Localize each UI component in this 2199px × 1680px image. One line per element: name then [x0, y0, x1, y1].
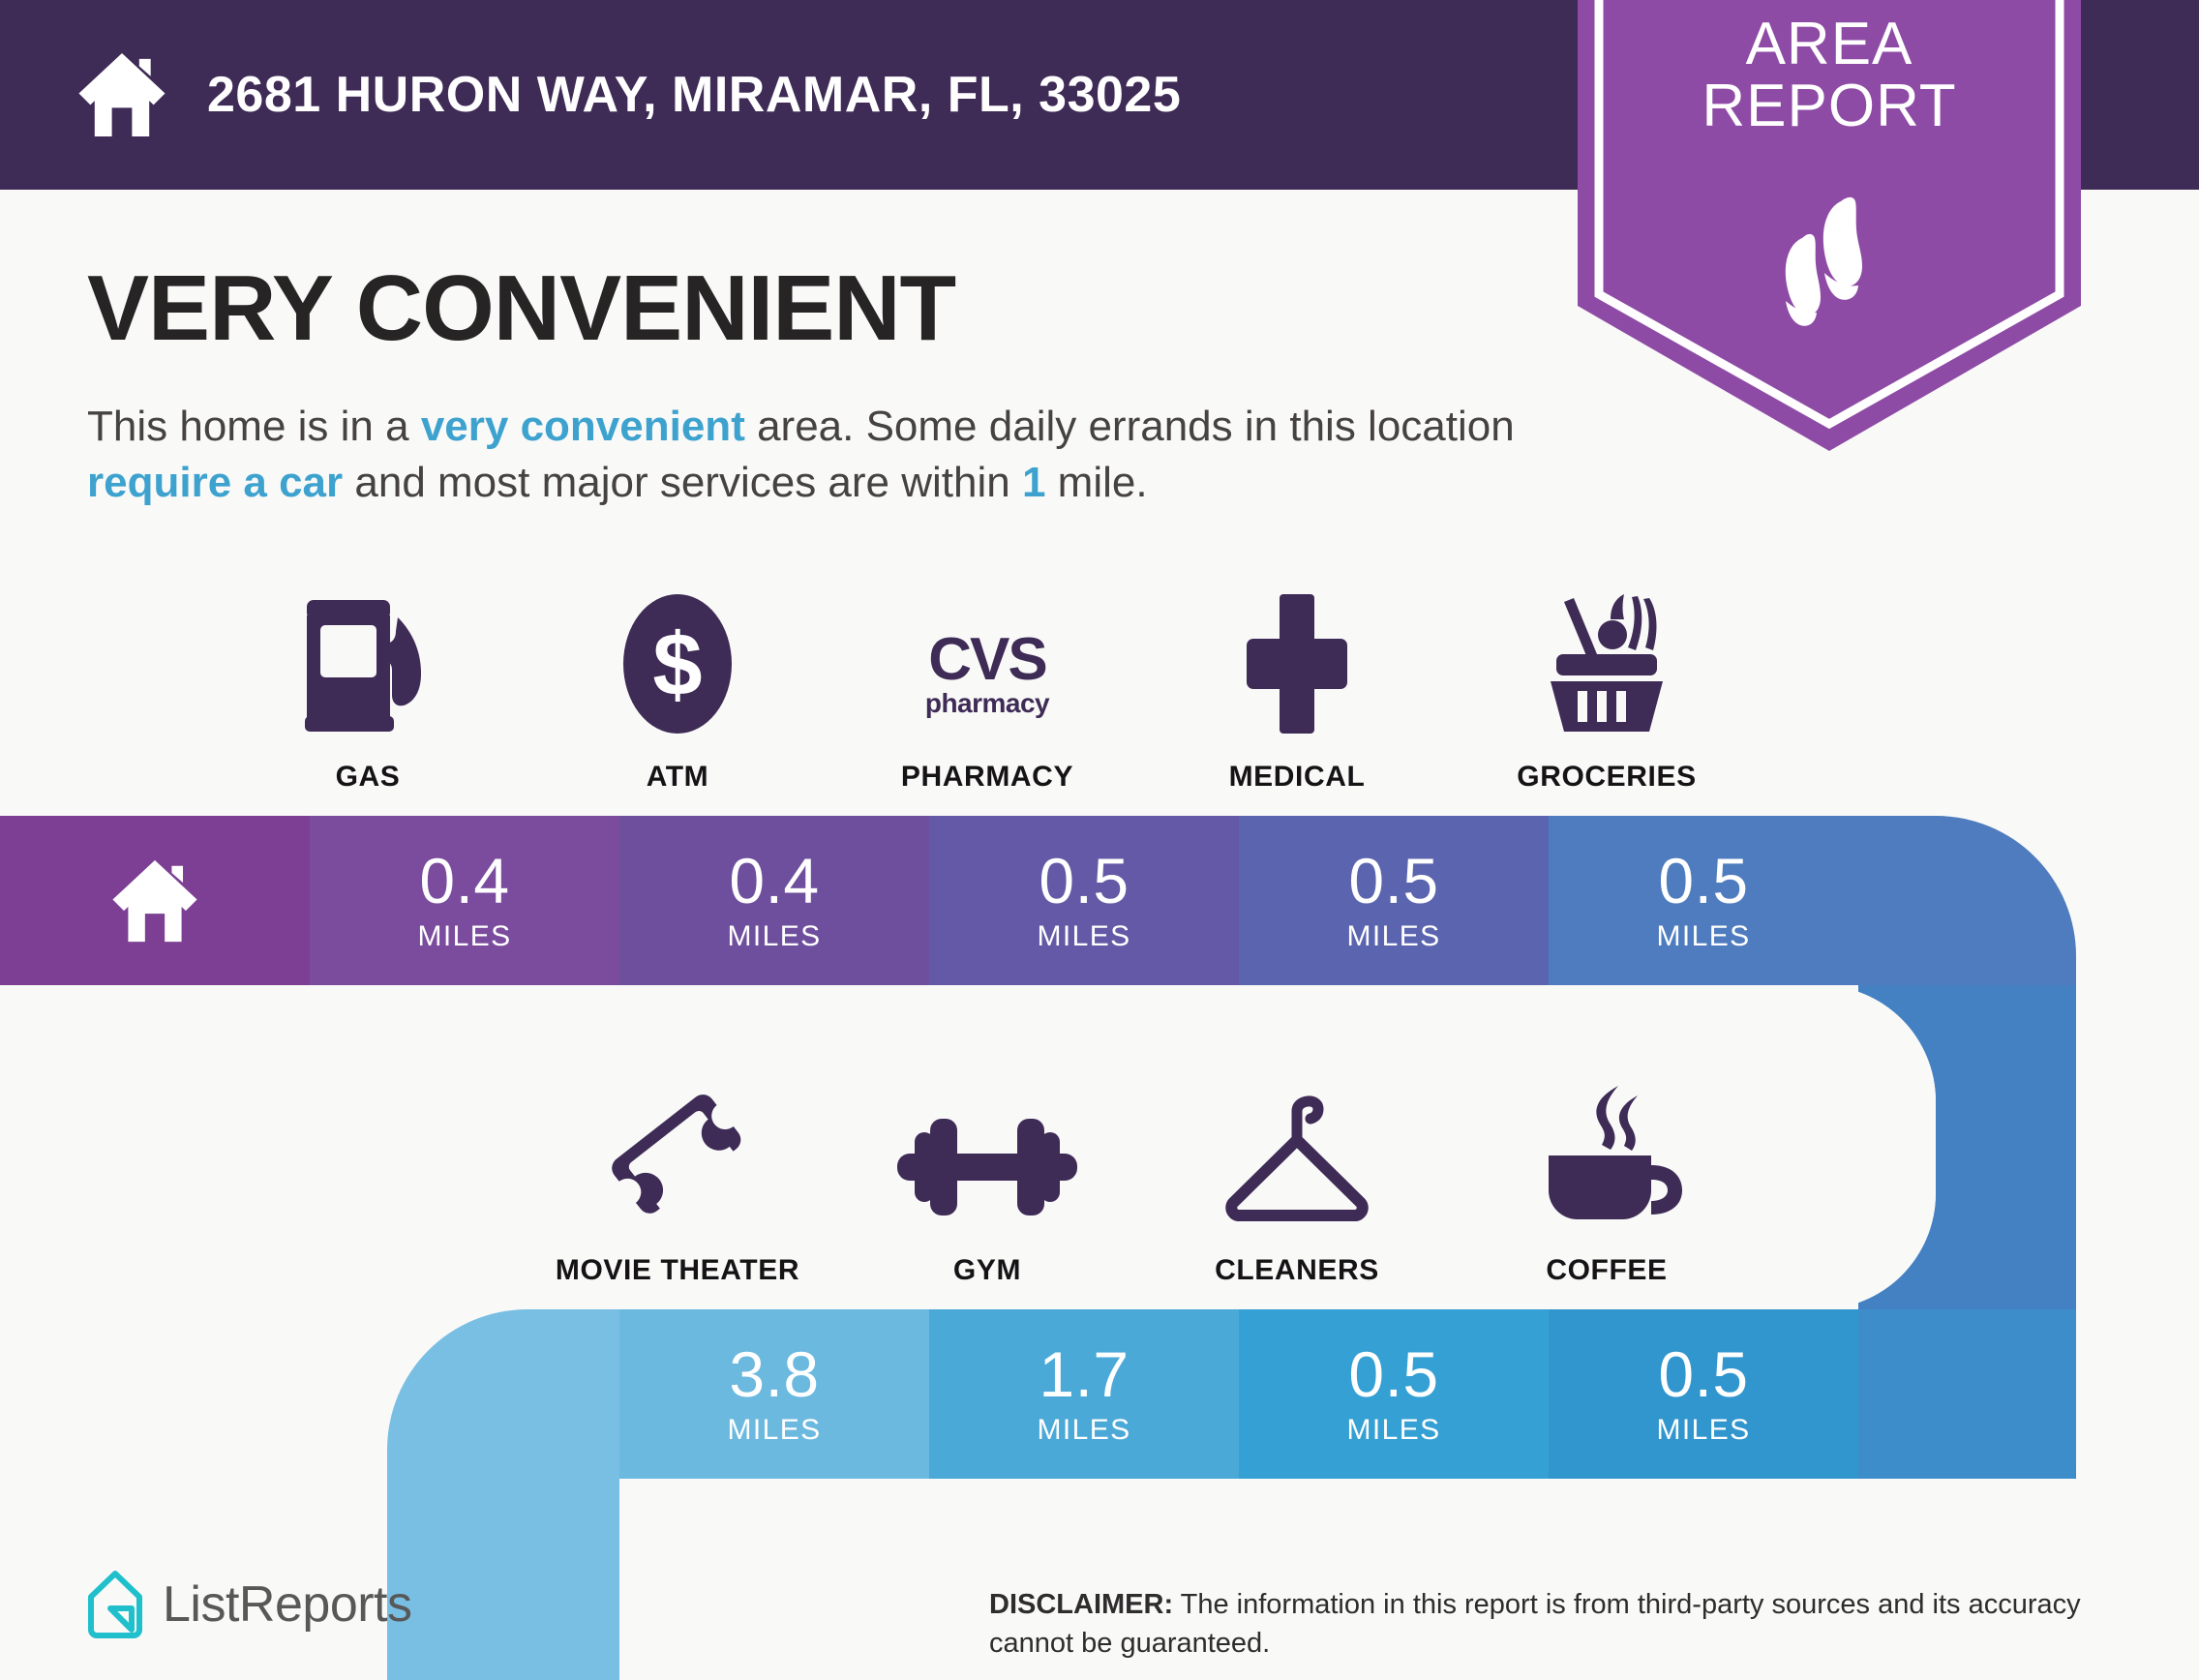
- amenity-label: COFFEE: [1546, 1254, 1667, 1287]
- distance-value: 0.5: [1658, 849, 1748, 913]
- svg-text:CVS: CVS: [928, 626, 1045, 693]
- brand-logo: ListReports: [85, 1570, 412, 1639]
- distance-cell-movie-theater: 3.8 MILES: [619, 1309, 929, 1479]
- amenity-label: MEDICAL: [1229, 761, 1366, 794]
- summary-text-2: area. Some daily errands in this locatio…: [745, 403, 1515, 450]
- amenity-medical: MEDICAL: [1142, 581, 1452, 794]
- distance-cell-atm: 0.4 MILES: [619, 816, 929, 985]
- amenity-label: ATM: [647, 761, 709, 794]
- summary-paragraph: This home is in a very convenient area. …: [87, 399, 1597, 511]
- amenity-label: GROCERIES: [1517, 761, 1696, 794]
- distance-value: 0.5: [1348, 1342, 1438, 1406]
- movie-ticket-icon: [610, 1074, 745, 1229]
- coffee-cup-icon: [1529, 1074, 1684, 1229]
- distance-cell-medical: 0.5 MILES: [1239, 816, 1549, 985]
- distance-value: 0.4: [729, 849, 819, 913]
- hanger-icon: [1215, 1074, 1379, 1229]
- amenity-label: MOVIE THEATER: [556, 1254, 799, 1287]
- listreports-house-pen-icon: [85, 1570, 145, 1639]
- distance-unit: MILES: [1346, 1414, 1440, 1447]
- summary-highlight-3: 1: [1022, 459, 1045, 506]
- disclaimer-label: DISCLAIMER:: [989, 1589, 1173, 1620]
- summary-text-4: mile.: [1045, 459, 1147, 506]
- summary-text-3: and most major services are within: [343, 459, 1022, 506]
- header-content: 2681 HURON WAY, MIRAMAR, FL, 33025: [75, 0, 1181, 190]
- amenity-icon-row-2: MOVIE THEATER GYM: [523, 1074, 1762, 1287]
- cvs-pharmacy-logo: CVS pharmacy: [900, 581, 1074, 735]
- distance-unit: MILES: [1656, 1414, 1750, 1447]
- property-address: 2681 HURON WAY, MIRAMAR, FL, 33025: [207, 66, 1181, 124]
- area-report-page: 2681 HURON WAY, MIRAMAR, FL, 33025 AREA …: [0, 0, 2199, 1680]
- distance-cell-coffee: 0.5 MILES: [1549, 1309, 1858, 1479]
- dumbbell-icon: [895, 1074, 1079, 1229]
- distance-value: 0.5: [1658, 1342, 1748, 1406]
- summary-highlight-2: require a car: [87, 459, 343, 506]
- distance-cell-gym: 1.7 MILES: [929, 1309, 1239, 1479]
- amenity-atm: $ ATM: [523, 581, 832, 794]
- svg-text:$: $: [652, 615, 702, 714]
- gas-pump-icon: [301, 581, 435, 735]
- distance-value: 1.7: [1039, 1342, 1129, 1406]
- distance-unit: MILES: [727, 1414, 821, 1447]
- distance-cell-groceries: 0.5 MILES: [1549, 816, 1858, 985]
- amenity-groceries: GROCERIES: [1452, 581, 1762, 794]
- area-report-badge: AREA REPORT: [1578, 0, 2081, 451]
- distance-unit: MILES: [1656, 920, 1750, 953]
- amenity-label: PHARMACY: [901, 761, 1073, 794]
- amenity-icon-row-1: GAS $ ATM CVS pharmacy PHARMACY: [213, 581, 1762, 794]
- distance-unit: MILES: [1346, 920, 1440, 953]
- amenity-gas: GAS: [213, 581, 523, 794]
- distance-unit: MILES: [1037, 920, 1130, 953]
- distance-value: 0.4: [419, 849, 509, 913]
- amenity-coffee: COFFEE: [1452, 1074, 1762, 1287]
- summary-highlight-1: very convenient: [421, 403, 745, 450]
- amenity-gym: GYM: [832, 1074, 1142, 1287]
- home-marker-cell: [0, 816, 310, 985]
- distance-unit: MILES: [1037, 1414, 1130, 1447]
- brand-name: ListReports: [163, 1575, 412, 1634]
- svg-text:pharmacy: pharmacy: [925, 688, 1050, 718]
- summary-text-1: This home is in a: [87, 403, 421, 450]
- amenity-pharmacy: CVS pharmacy PHARMACY: [832, 581, 1142, 794]
- distance-unit: MILES: [727, 920, 821, 953]
- distance-cell-cleaners: 0.5 MILES: [1239, 1309, 1549, 1479]
- dollar-coin-icon: $: [606, 581, 749, 735]
- disclaimer: DISCLAIMER: The information in this repo…: [989, 1585, 2141, 1663]
- page-title: VERY CONVENIENT: [87, 255, 955, 362]
- distance-row-2: 3.8 MILES 1.7 MILES 0.5 MILES 0.5 MILES: [619, 1309, 1858, 1479]
- house-icon: [108, 857, 201, 945]
- distance-unit: MILES: [417, 920, 511, 953]
- distance-cell-pharmacy: 0.5 MILES: [929, 816, 1239, 985]
- amenity-label: GAS: [336, 761, 401, 794]
- amenity-movie-theater: MOVIE THEATER: [523, 1074, 832, 1287]
- house-icon: [75, 50, 168, 139]
- amenity-label: CLEANERS: [1215, 1254, 1379, 1287]
- distance-value: 3.8: [729, 1342, 819, 1406]
- distance-value: 0.5: [1348, 849, 1438, 913]
- amenity-cleaners: CLEANERS: [1142, 1074, 1452, 1287]
- distance-value: 0.5: [1039, 849, 1129, 913]
- medical-cross-icon: [1231, 581, 1363, 735]
- amenity-label: GYM: [953, 1254, 1021, 1287]
- grocery-basket-icon: [1529, 581, 1684, 735]
- distance-row-1: 0.4 MILES 0.4 MILES 0.5 MILES 0.5 MILES …: [0, 816, 1858, 985]
- distance-cell-gas: 0.4 MILES: [310, 816, 619, 985]
